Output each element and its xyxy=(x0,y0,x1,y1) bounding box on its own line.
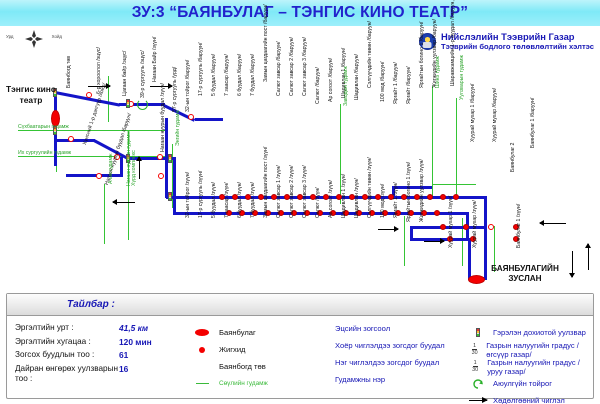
station-label: 7 заасар /зүүн/ xyxy=(224,182,230,218)
slope-numerator: 1 xyxy=(472,343,477,350)
stat-row: Дайран өнгөрөх уулзварын тоо : 16 xyxy=(15,364,185,384)
station-label: Салют /баруун/ xyxy=(315,67,321,104)
station-label: 5 буудал /зүүн/ xyxy=(211,182,217,218)
page-title: ЗУ:3 “БАЯНБУЛАГ – ТЭНГИС КИНО ТЕАТР” xyxy=(132,4,468,22)
station-label: Салют завсар /баруун/ xyxy=(276,41,282,96)
station-label: Хуурай мухар 1 /баруун/ xyxy=(470,84,476,142)
legend-icon-row: Аюулгүйн тойрог xyxy=(463,375,593,392)
station-label: 6 буудал /зүүн/ xyxy=(237,182,243,218)
station-label: Ар согоот /зүүн/ xyxy=(328,180,334,218)
stat-row: Эргэлтийн хугацаа : 120 мин xyxy=(15,337,185,347)
traffic-light-icon xyxy=(463,328,493,337)
legend-icon-descriptions: Гэрэлэн дохиотой уулзвар 130 Газрын налу… xyxy=(463,317,593,398)
direction-arrow-icon xyxy=(139,157,140,179)
station-label: Яргайтын богино 1 /баруун/ xyxy=(419,22,425,88)
street-label: Сүхбаатарын гудамж xyxy=(18,124,69,130)
direction-arrow-icon xyxy=(378,229,398,230)
station-label: Салют завсар 2 /зүүн/ xyxy=(289,165,295,218)
street-line xyxy=(432,184,476,185)
legend-description: Нэг чиглэлдээ зогсдог буудал xyxy=(335,358,463,375)
station-label: Нагаан Байр /зүүн/ xyxy=(152,37,158,82)
direction-arrow-icon xyxy=(588,244,589,270)
legend-icon-label: Гэрэлэн дохиотой уулзвар xyxy=(493,328,586,337)
terminus-label-right: БАЯНБУЛАГИЙН ЗУСЛАН xyxy=(482,264,568,284)
station-label: 17-р сургууль /зүүн/ xyxy=(198,171,204,218)
direction-arrow-icon xyxy=(540,223,566,224)
terminus-label-left: Тэнгис кино театр xyxy=(6,84,56,106)
stat-value: 41,5 км xyxy=(119,323,148,333)
stat-label: Зогсох буудлын тоо : xyxy=(15,350,119,360)
legend-header: Тайлбар : xyxy=(7,294,593,316)
route-line xyxy=(195,118,223,121)
direction-arrow-icon xyxy=(113,202,135,203)
org-dept: Тээврийн бодлого төлөвлөлтийн хэлтэс xyxy=(441,42,594,51)
compass-rose-icon: Урд Хойд xyxy=(6,29,62,49)
station-label: 5 буудал /баруун/ xyxy=(211,54,217,96)
station-label: Салют завсар 2 /баруун/ xyxy=(289,37,295,96)
direction-arrow-icon xyxy=(424,241,444,242)
station-label: 7 буудал /зүүн/ xyxy=(250,182,256,218)
station-label: Баянбогд төв xyxy=(66,56,72,88)
stop-marker[interactable] xyxy=(440,194,446,200)
slope-denominator: 30 xyxy=(472,367,478,373)
stop-marker[interactable] xyxy=(463,224,469,230)
legend-description: Хоёр чиглэлдээ зогсдог буудал xyxy=(335,341,463,358)
street-line xyxy=(104,184,105,244)
stat-label: Дайран өнгөрөх уулзварын тоо : xyxy=(15,364,119,384)
station-label: Замын цагдаагийн пост /баруун/ xyxy=(263,4,269,82)
compass-label-east: Хойд xyxy=(52,34,62,39)
station-label: Нагаан нуурын буудал /зүүн/ xyxy=(160,83,166,152)
traffic-light-icon xyxy=(168,154,172,163)
station-label: Хуурай мухар 1 /зүүн/ xyxy=(448,196,454,248)
station-label: Салют завсар 3 /зүүн/ xyxy=(302,165,308,218)
legend-icon-row: Хөдөлгөөний чиглэл xyxy=(463,392,593,404)
station-label: 7 буудал /баруун/ xyxy=(250,54,256,96)
station-label: 39-р сургууль /эцүс/ xyxy=(140,50,146,98)
legend-description: Эцсийн зогсоол xyxy=(335,324,463,341)
slope-up-icon: 130 xyxy=(463,343,486,356)
station-label: 7 заасар /баруун/ xyxy=(224,54,230,96)
legend-symbol-label: Жигхид xyxy=(219,345,246,354)
stat-label: Эргэлтийн урт : xyxy=(15,323,119,333)
station-label: Жигжидийн уулзвар /зүүн/ xyxy=(419,159,425,222)
green-line-icon xyxy=(185,383,219,384)
legend-symbols: Баянбулаг Жигхид Баянбогд төв Сөүлийн гу… xyxy=(185,317,335,398)
slope-denominator: 30 xyxy=(472,350,478,356)
street-line xyxy=(432,86,433,198)
station-label: Яргайт 1 /баруун/ xyxy=(393,62,399,104)
stop-marker-oneway[interactable] xyxy=(488,224,494,230)
direction-arrow-icon xyxy=(463,400,493,402)
stop-marker-oneway[interactable] xyxy=(96,173,102,179)
stop-marker[interactable] xyxy=(440,224,446,230)
station-label: Яргайт 1 /зүүн/ xyxy=(393,182,399,218)
roundabout-icon xyxy=(463,378,493,390)
station-label: Цагаан байр /эцүс/ xyxy=(122,51,128,96)
route-line xyxy=(468,238,471,280)
route-diagram-page: ЗУ:3 “БАЯНБУЛАГ – ТЭНГИС КИНО ТЕАТР” Урд… xyxy=(0,0,600,404)
legend-icon-row: Гэрэлэн дохиотой уулзвар xyxy=(463,324,593,341)
legend-symbol-label: Сөүлийн гудамж xyxy=(219,380,268,387)
organization-header: Нийслэлийн Тээврийн Газар Тээврийн бодло… xyxy=(419,31,594,51)
direction-arrow-icon xyxy=(572,251,573,277)
legend-symbol-label: Баянбулаг xyxy=(219,328,256,337)
station-label: Шаравжамцийн 1-р буудал /баруун, эцүс/ xyxy=(450,0,456,86)
station-label: Шадивлан /баруун/ xyxy=(354,54,360,100)
station-label: Сэлгүүчдийн төвөн /баруун/ xyxy=(367,21,373,88)
legend-icon-label: Хөдөлгөөний чиглэл xyxy=(493,396,565,404)
stop-marker-oneway[interactable] xyxy=(188,114,194,120)
station-label: Баянбулаг 1 /баруун/ xyxy=(530,98,536,148)
slope-down-icon: 130 xyxy=(463,360,487,373)
legend-descriptions: Эцсийн зогсоол Хоёр чиглэлдээ зогсдог бу… xyxy=(335,317,463,398)
route-line xyxy=(484,196,487,238)
legend-description: Гудамжны нэр xyxy=(335,375,463,392)
route-map: Урд Хойд Нийслэлийн Тээврийн Газар Тээвр… xyxy=(0,26,600,290)
legend-icon-label: Аюулгүйн тойрог xyxy=(493,379,552,388)
legend-panel: Тайлбар : Эргэлтийн урт : 41,5 км Эргэлт… xyxy=(6,293,594,399)
station-label: Хуурай мухар /зүүн/ xyxy=(472,200,478,248)
station-label: 57-р сургууль /урд/ xyxy=(172,67,178,112)
legend-stats: Эргэлтийн урт : 41,5 км Эргэлтийн хугаца… xyxy=(7,317,185,398)
traffic-light-icon xyxy=(168,192,172,201)
stat-value: 61 xyxy=(119,350,128,360)
street-line xyxy=(456,98,457,198)
stop-marker-oneway[interactable] xyxy=(68,136,74,142)
stat-value: 16 xyxy=(119,364,128,374)
stat-value: 120 мин xyxy=(119,337,152,347)
terminus-ellipse-icon xyxy=(185,329,219,336)
station-label: Замын цагдаагийн пост /зүүн/ xyxy=(263,147,269,218)
station-label: 32-ын тойрог /баруун/ xyxy=(185,60,191,112)
station-label: Салют завсар 1 /зүүн/ xyxy=(276,165,282,218)
station-label: Хуурай мухар /баруун/ xyxy=(492,88,498,142)
stop-marker[interactable] xyxy=(434,210,440,216)
legend-symbol-label: Баянбогд төв xyxy=(219,362,266,371)
traffic-light-icon xyxy=(126,99,130,108)
station-label: Хүнсний 1-р дэлгүүр /хойд/ xyxy=(82,82,108,146)
station-label: Баянбулаг 2 xyxy=(510,143,516,172)
street-label: А-ын гудамж xyxy=(108,154,114,184)
stat-label: Эргэлтийн хугацаа : xyxy=(15,337,119,347)
street-label: Уулзварын гудамж xyxy=(459,55,465,100)
station-label: Ар согоот /баруун/ xyxy=(328,58,334,102)
route-line xyxy=(173,157,176,215)
station-label: 17-р сургууль /баруун/ xyxy=(198,43,204,96)
street-label: Их сургуулийн гудамж xyxy=(18,150,71,156)
legend-symbol-row: Баянбогд төв xyxy=(185,358,335,375)
route-line xyxy=(410,226,413,240)
legend-symbol-row: Баянбулаг xyxy=(185,324,335,341)
legend-symbol-row: Сөүлийн гудамж xyxy=(185,375,335,392)
page-title-bar: ЗУ:3 “БАЯНБУЛАГ – ТЭНГИС КИНО ТЕАТР” xyxy=(0,0,600,26)
station-label: 6 буудал /баруун/ xyxy=(237,54,243,96)
stop-dot-icon xyxy=(185,347,219,353)
street-label: Нагаан нуурын гудамж xyxy=(126,131,132,186)
legend-symbol-row: Жигхид xyxy=(185,341,335,358)
stop-marker-oneway[interactable] xyxy=(157,154,163,160)
street-line xyxy=(18,130,168,131)
stat-row: Зогсох буудлын тоо : 61 xyxy=(15,350,185,360)
legend-title: Тайлбар : xyxy=(67,299,115,310)
street-line xyxy=(404,216,405,266)
stop-marker-oneway[interactable] xyxy=(158,173,164,179)
station-label: 100 мод /зүүн/ xyxy=(380,184,386,218)
station-label: Баянбулаг 1 /зүүн/ xyxy=(516,204,522,248)
station-label: Яргайт /баруун/ xyxy=(406,66,412,104)
compass-label-west: Урд xyxy=(6,34,14,39)
street-label: Энгийн гудамж xyxy=(175,110,181,146)
station-label: Салют завсар 3 /баруун/ xyxy=(302,37,308,96)
station-label: Шадивлан /зүүн/ xyxy=(354,178,360,218)
legend-icon-label: Газрын налуугийн градус /уруу газар/ xyxy=(487,358,593,376)
station-label: 100 мод /баруун/ xyxy=(380,62,386,102)
roundabout-icon xyxy=(137,99,148,110)
legend-icon-row: 130 Газрын налуугийн градус /өгсүүр газа… xyxy=(463,341,593,358)
street-label: Шинэ гудамж xyxy=(435,56,441,88)
slope-numerator: 1 xyxy=(473,360,478,367)
stat-row: Эргэлтийн урт : 41,5 км xyxy=(15,323,185,333)
street-label: Заводын гудамж xyxy=(343,66,349,106)
stop-marker[interactable] xyxy=(427,194,433,200)
legend-icon-label: Газрын налуугийн градус /өгсүүр газар/ xyxy=(486,341,593,359)
org-name: Нийслэлийн Тээврийн Газар xyxy=(441,31,594,42)
station-label: Яргайтын богино 1 /зүүн/ xyxy=(406,162,412,222)
station-label: Салют /зүүн/ xyxy=(315,187,321,218)
station-label: Сэлгүүчдийн төвөн /зүүн/ xyxy=(367,157,373,218)
legend-icon-row: 130 Газрын налуугийн градус /уруу газар/ xyxy=(463,358,593,375)
station-label: 32-ын тойрог /зүүн/ xyxy=(185,172,191,218)
stop-marker-oneway[interactable] xyxy=(86,92,92,98)
station-label: Шадивлан 1 /зүүн/ xyxy=(341,174,347,218)
